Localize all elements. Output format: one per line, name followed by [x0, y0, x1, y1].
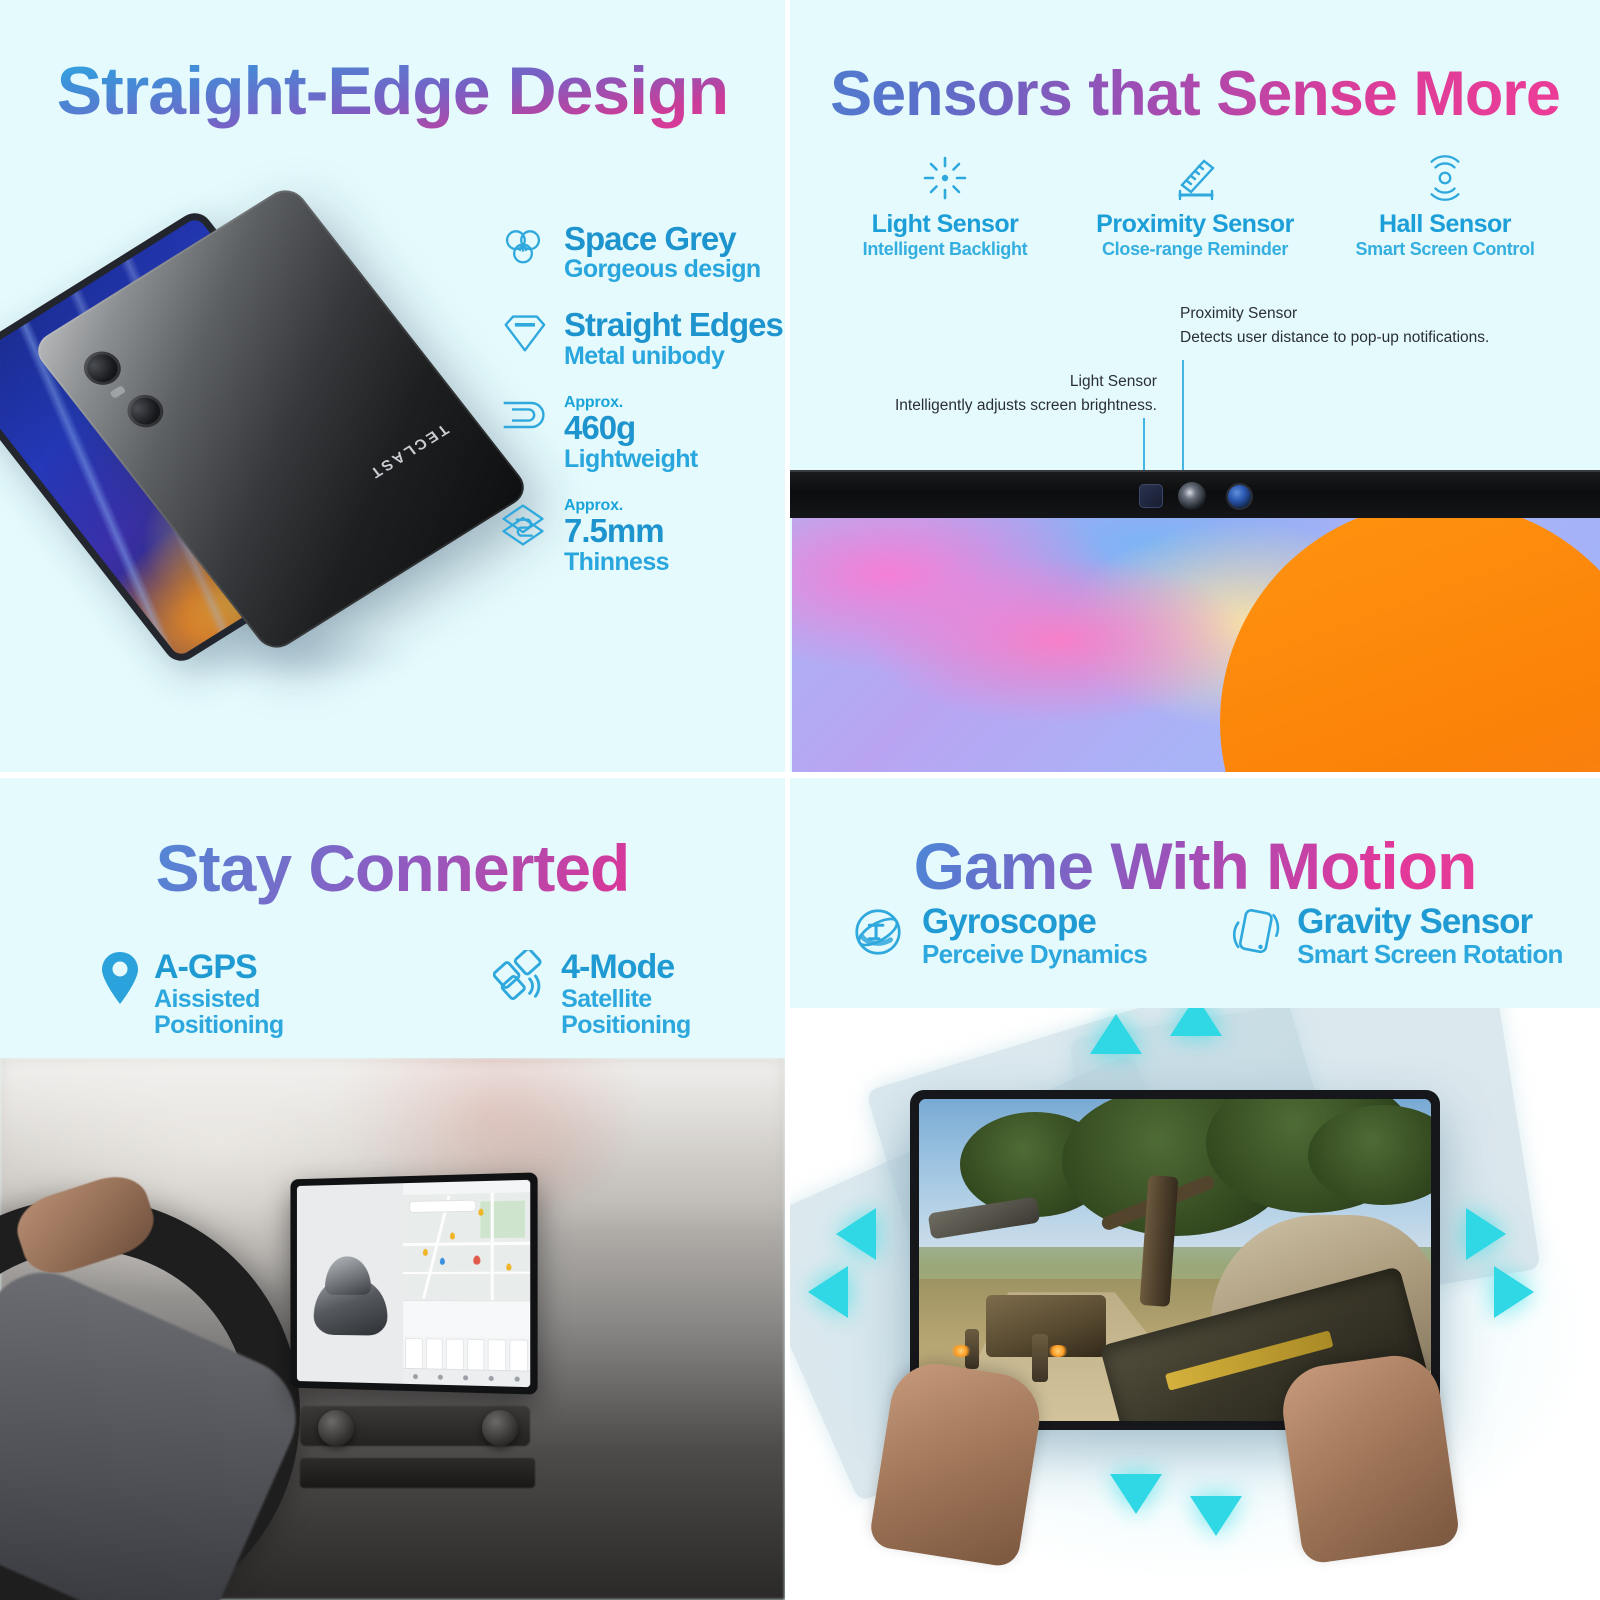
- sensor-desc: Smart Screen Control: [1330, 239, 1560, 260]
- rear-camera-secondary-icon: [120, 389, 170, 434]
- motion-arrow-down: [1190, 1496, 1242, 1536]
- sensor-item: Proximity Sensor Close-range Reminder: [1080, 152, 1310, 260]
- player-hand-left: [868, 1357, 1046, 1568]
- spec-main-label: Space Grey: [564, 222, 761, 256]
- motion-arrow-right: [1466, 1208, 1506, 1260]
- bottom-dock[interactable]: [403, 1368, 530, 1387]
- thinness-icon: [500, 498, 552, 553]
- gyroscope-icon: [850, 904, 906, 965]
- motion-sub-label: Perceive Dynamics: [922, 941, 1147, 968]
- callout-proximity: Proximity Sensor Detects user distance t…: [1180, 302, 1489, 350]
- leader-line-proximity: [1182, 360, 1184, 482]
- gravity-sensor-icon: [1227, 904, 1281, 965]
- spec-sub-label: Lightweight: [564, 446, 698, 472]
- gps-sub-label: Aissisted Positioning: [154, 986, 393, 1039]
- tablet-bezel: [790, 470, 1600, 518]
- dock-icon[interactable]: [489, 1376, 494, 1381]
- proximity-sensor-hardware-icon: [1178, 482, 1206, 510]
- light-sensor-hardware-icon: [1139, 484, 1163, 508]
- game-muzzle-flash: [1047, 1345, 1069, 1357]
- panel-title-sensors: Sensors that Sense More: [790, 58, 1600, 130]
- motion-arrow-up: [1170, 1008, 1222, 1036]
- front-camera-icon: [1226, 483, 1253, 510]
- panel-stay-connected: Stay Connerted A-GPS Aissisted Positioni…: [0, 778, 790, 1600]
- gps-item: 4-Mode Satellite Positioning: [493, 950, 785, 1038]
- callout-desc: Intelligently adjusts screen brightness.: [895, 394, 1157, 418]
- sensor-name: Proximity Sensor: [1080, 210, 1310, 239]
- callout-title: Light Sensor: [895, 370, 1157, 394]
- gaming-tablet-photo: [790, 1008, 1600, 1600]
- callout-desc: Detects user distance to pop-up notifica…: [1180, 326, 1489, 350]
- control-knob-right: [482, 1410, 518, 1446]
- gem-edge-icon: [500, 308, 552, 359]
- callout-title: Proximity Sensor: [1180, 302, 1489, 326]
- panel-sensors: Sensors that Sense More Light Sensor Int…: [790, 0, 1600, 778]
- motion-main-label: Gravity Sensor: [1297, 904, 1563, 941]
- motion-arrow-right: [1494, 1266, 1534, 1318]
- satellite-icon: [493, 950, 547, 1007]
- map-search-bar[interactable]: [410, 1201, 475, 1212]
- sensor-feature-row: Light Sensor Intelligent Backlight Proxi…: [820, 152, 1570, 260]
- center-console-strip: [300, 1458, 535, 1488]
- callout-light: Light Sensor Intelligently adjusts scree…: [895, 370, 1157, 418]
- gps-item: A-GPS Aissisted Positioning: [100, 950, 393, 1038]
- sensor-name: Hall Sensor: [1330, 210, 1560, 239]
- dock-icon[interactable]: [463, 1375, 468, 1380]
- ruler-icon: [1080, 152, 1310, 204]
- dock-icon[interactable]: [515, 1376, 520, 1381]
- sensor-desc: Close-range Reminder: [1080, 239, 1310, 260]
- sensor-name: Light Sensor: [830, 210, 1060, 239]
- dock-icon[interactable]: [413, 1374, 418, 1379]
- gps-main-label: 4-Mode: [561, 950, 785, 986]
- game-enemy-soldier: [1032, 1334, 1048, 1382]
- tablet-screen-wallpaper: [792, 518, 1600, 772]
- infotainment-display: [290, 1172, 537, 1394]
- panel-title-design: Straight-Edge Design: [0, 52, 785, 130]
- car-dashboard-photo: [0, 1058, 785, 1600]
- vehicle-3d-render: [313, 1279, 387, 1335]
- gps-feature-row: A-GPS Aissisted Positioning 4-Mode: [100, 950, 785, 1038]
- spec-main-label: Straight Edges: [564, 308, 783, 342]
- color-palette-icon: [500, 222, 552, 277]
- motion-feature-row: Gyroscope Perceive Dynamics Gravity Sens…: [850, 904, 1563, 968]
- panel-straight-edge-design: Straight-Edge Design TECLAST: [0, 0, 790, 778]
- sunburst-icon: [830, 152, 1060, 204]
- spec-sub-label: Metal unibody: [564, 343, 783, 369]
- sensor-item: Light Sensor Intelligent Backlight: [830, 152, 1060, 260]
- motion-main-label: Gyroscope: [922, 904, 1147, 941]
- spec-main-label: 7.5mm: [564, 514, 669, 548]
- motion-item: Gravity Sensor Smart Screen Rotation: [1227, 904, 1563, 968]
- rear-camera-main-icon: [77, 345, 128, 391]
- spec-main-label: 460g: [564, 411, 698, 445]
- magnetic-field-icon: [1330, 152, 1560, 204]
- motion-arrow-down: [1110, 1474, 1162, 1514]
- media-bar[interactable]: [403, 1300, 530, 1338]
- brand-logo: TECLAST: [364, 421, 451, 482]
- tablet-back-view: TECLAST: [30, 183, 532, 655]
- panel-title-connected: Stay Connerted: [0, 830, 785, 906]
- tablet-bezel-photo: [790, 470, 1600, 772]
- spec-sub-label: Thinness: [564, 549, 669, 575]
- spec-item: Approx. 7.5mm Thinness: [500, 498, 790, 575]
- map-pin-icon: [100, 950, 140, 1011]
- gps-main-label: A-GPS: [154, 950, 393, 986]
- infotainment-screen: [297, 1180, 530, 1387]
- wallpaper-orange-circle: [1220, 518, 1600, 772]
- dock-icon[interactable]: [438, 1375, 443, 1380]
- spec-item: Space Grey Gorgeous design: [500, 222, 790, 282]
- map-view: [403, 1192, 530, 1300]
- infographic-grid: Straight-Edge Design TECLAST: [0, 0, 1600, 1600]
- navigation-pane: [403, 1180, 530, 1387]
- panel-title-motion: Game With Motion: [790, 828, 1600, 904]
- motion-arrow-up: [1090, 1014, 1142, 1054]
- spec-sub-label: Gorgeous design: [564, 256, 761, 282]
- sensor-desc: Intelligent Backlight: [830, 239, 1060, 260]
- spec-item: Approx. 460g Lightweight: [500, 395, 790, 472]
- weight-icon: [500, 395, 552, 436]
- sensor-item: Hall Sensor Smart Screen Control: [1330, 152, 1560, 260]
- game-muzzle-flash: [950, 1345, 972, 1357]
- spec-list: Space Grey Gorgeous design Straight Edge…: [500, 222, 790, 601]
- gps-sub-label: Satellite Positioning: [561, 986, 785, 1039]
- motion-arrow-left: [836, 1208, 876, 1260]
- tablet-product-photo: TECLAST: [10, 215, 480, 665]
- motion-item: Gyroscope Perceive Dynamics: [850, 904, 1147, 968]
- panel-game-with-motion: Game With Motion Gyroscope Perceive Dyna…: [790, 778, 1600, 1600]
- motion-sub-label: Smart Screen Rotation: [1297, 941, 1563, 968]
- vehicle-render-pane: [297, 1183, 403, 1384]
- player-hand-right: [1277, 1350, 1461, 1565]
- spec-item: Straight Edges Metal unibody: [500, 308, 790, 368]
- camera-flash-icon: [109, 385, 126, 399]
- control-knob-left: [318, 1410, 354, 1446]
- motion-arrow-left: [808, 1266, 848, 1318]
